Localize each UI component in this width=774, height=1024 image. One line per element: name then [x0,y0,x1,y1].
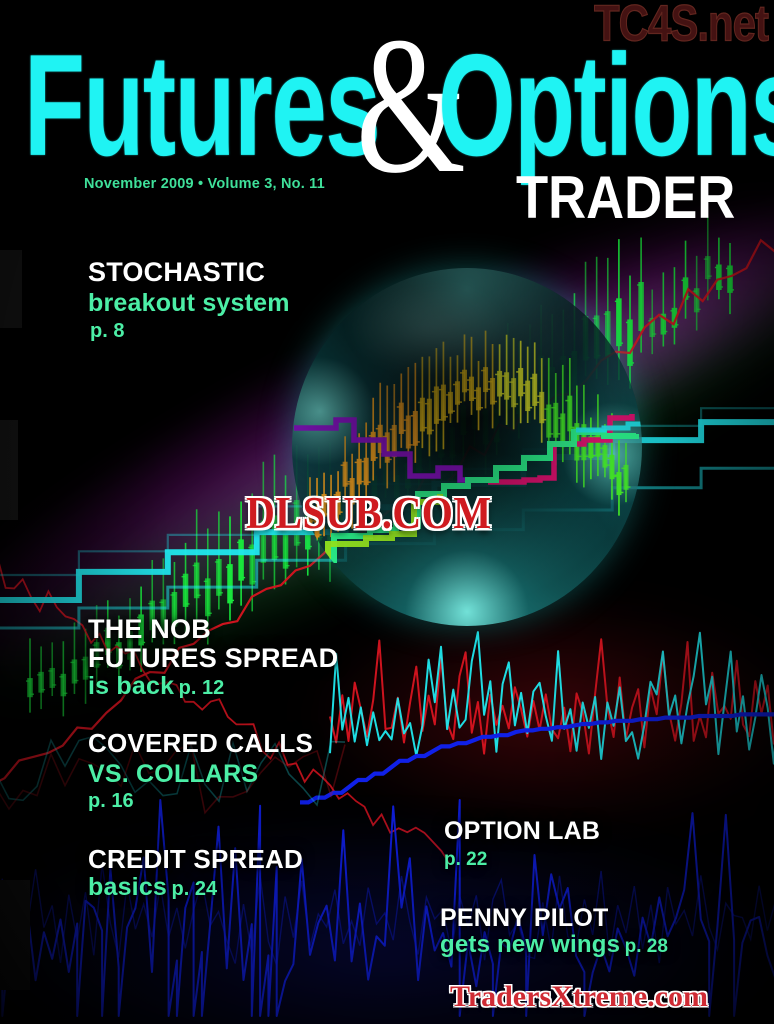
cover-line-stochastic[interactable]: STOCHASTIC breakout system p. 8 [88,258,290,342]
cover-line-headline-2: FUTURES SPREAD [88,644,338,673]
cover-line-penny-pilot[interactable]: PENNY PILOT gets new wings p. 28 [440,905,668,957]
cover-line-page: p. 12 [179,677,225,699]
cover-line-page: p. 28 [625,936,668,957]
cover-line-subhead: breakout system [88,290,290,317]
cover-line-subhead: VS. COLLARS [88,761,313,788]
watermark-tradersxtreme: TradersXtreme.com [450,980,708,1014]
scan-artifact-strip [0,420,18,520]
cover-line-pageline: p. 8 [88,321,290,342]
cover-line-option-lab[interactable]: OPTION LAB p. 22 [444,818,600,870]
cover-line-headline: COVERED CALLS [88,730,313,758]
cover-line-subline: basics p. 24 [88,874,303,901]
cover-line-subline: is back p. 12 [88,673,338,700]
cover-line-page: p. 8 [90,320,124,342]
scan-artifact-strip [0,880,30,990]
sphere-highlight [348,282,509,375]
cover-line-subline: gets new wings p. 28 [440,932,668,958]
cover-line-headline: CREDIT SPREAD [88,846,303,874]
cover-line-pageline: p. 22 [444,850,600,870]
cover-line-headline: STOCHASTIC [88,258,290,287]
cover-line-headline-1: THE NOB [88,615,338,644]
cover-line-subhead: gets new wings [440,931,620,958]
cover-line-page: p. 24 [172,878,218,900]
cover-line-nob-futures-spread[interactable]: THE NOB FUTURES SPREAD is back p. 12 [88,615,338,700]
cover-line-subhead: is back [88,672,174,700]
cover-line-credit-spread[interactable]: CREDIT SPREAD basics p. 24 [88,846,303,901]
cover-line-headline: OPTION LAB [444,818,600,845]
watermark-dlsub: DLSUB.COM [246,486,492,540]
title-word-options-wrap: Options [438,34,774,162]
title-word-futures: Futures [24,34,379,179]
globe-sphere-graphic [292,268,642,626]
cover-line-covered-calls[interactable]: COVERED CALLS VS. COLLARS p. 16 [88,730,313,812]
title-word-trader: TRADER [516,162,735,232]
cover-line-page: p. 22 [444,849,487,870]
cover-line-headline: PENNY PILOT [440,905,668,932]
cover-line-page: p. 16 [88,790,134,812]
cover-line-subhead: basics [88,873,167,901]
cover-line-pageline: p. 16 [88,791,313,812]
watermark-tc4s: TC4S.net [594,0,768,53]
scan-artifact-strip [0,250,22,328]
magazine-cover: Futures & Options TRADER November 2009 •… [0,0,774,1024]
title-word-options: Options [438,34,774,179]
issue-date-line: November 2009 • Volume 3, No. 11 [84,176,325,192]
